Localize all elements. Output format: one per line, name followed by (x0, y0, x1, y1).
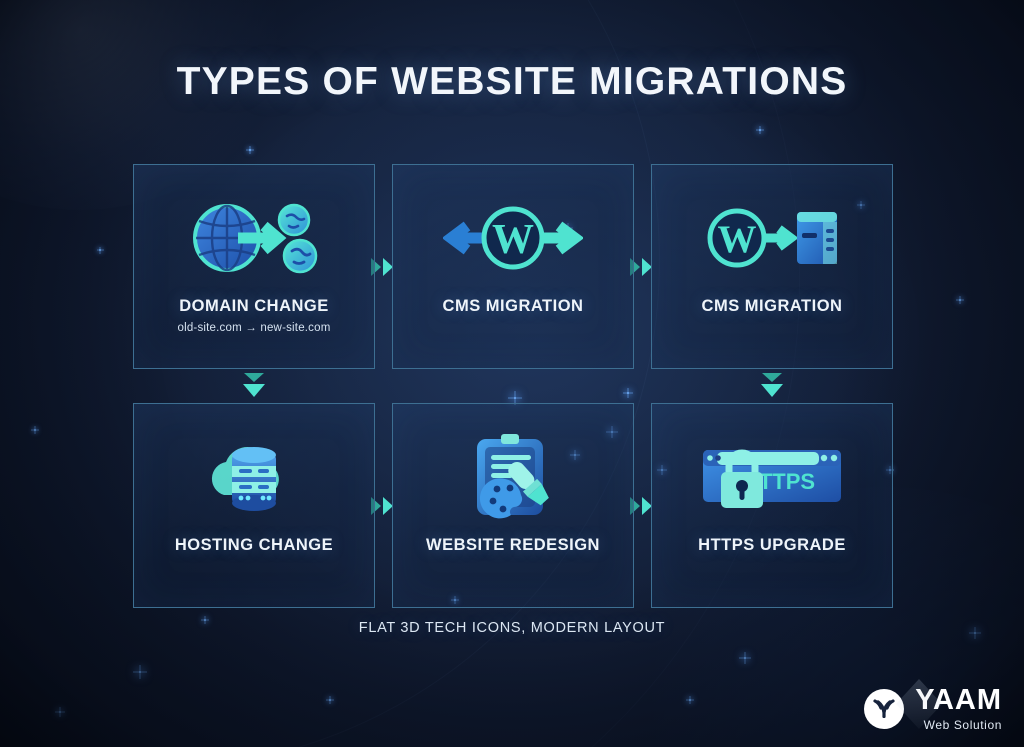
wordpress-to-server-icon: W (705, 179, 839, 297)
card-label: HOSTING CHANGE (175, 536, 333, 555)
migration-grid: DOMAIN CHANGE old-site.com → new-site.co… (133, 164, 893, 608)
grid-row-2: HOSTING CHANGE (133, 403, 893, 608)
connector-r2-c1-c2 (375, 403, 392, 608)
card-cms-migration-2[interactable]: W CMS MIGRATION (651, 164, 893, 369)
card-cms-migration-1[interactable]: W CMS MIGRATION (392, 164, 634, 369)
logo-tagline: Web Solution (915, 719, 1002, 731)
card-subtitle: old-site.com → new-site.com (177, 322, 330, 334)
double-chevron-down-icon (241, 371, 267, 401)
card-https-upgrade[interactable]: HTTPS HTTPS UPGRADE (651, 403, 893, 608)
spacer (634, 369, 651, 403)
connector-r1-c1-c2 (375, 164, 392, 369)
spacer (375, 369, 392, 403)
svg-text:W: W (718, 218, 757, 261)
card-label: CMS MIGRATION (443, 297, 584, 316)
card-domain-change[interactable]: DOMAIN CHANGE old-site.com → new-site.co… (133, 164, 375, 369)
globe-to-globes-icon (190, 179, 318, 297)
yaam-y-mark-icon (864, 689, 904, 729)
footer-note: FLAT 3D TECH ICONS, MODERN LAYOUT (0, 620, 1024, 636)
clipboard-palette-brush-icon (461, 418, 565, 536)
vertical-connector-row (133, 369, 893, 403)
card-hosting-change[interactable]: HOSTING CHANGE (133, 403, 375, 608)
connector-r2-c2-c3 (634, 403, 651, 608)
vertical-gap-center (392, 369, 634, 403)
card-label: CMS MIGRATION (702, 297, 843, 316)
page-title: TYPES OF WEBSITE MIGRATIONS (0, 60, 1024, 104)
brand-logo[interactable]: YAAM Web Solution (864, 686, 1002, 731)
grid-row-1: DOMAIN CHANGE old-site.com → new-site.co… (133, 164, 893, 369)
connector-c3-down (651, 369, 893, 403)
connector-r1-c2-c3 (634, 164, 651, 369)
card-label: WEBSITE REDESIGN (426, 536, 600, 555)
cloud-database-icon (194, 418, 314, 536)
double-chevron-down-icon (759, 371, 785, 401)
card-label: DOMAIN CHANGE (179, 297, 329, 316)
connector-c1-down (133, 369, 375, 403)
svg-text:W: W (492, 217, 534, 263)
card-website-redesign[interactable]: WEBSITE REDESIGN (392, 403, 634, 608)
browser-padlock-https-icon: HTTPS (697, 418, 847, 536)
wordpress-bidirectional-arrows-icon: W (443, 179, 583, 297)
card-label: HTTPS UPGRADE (698, 536, 846, 555)
